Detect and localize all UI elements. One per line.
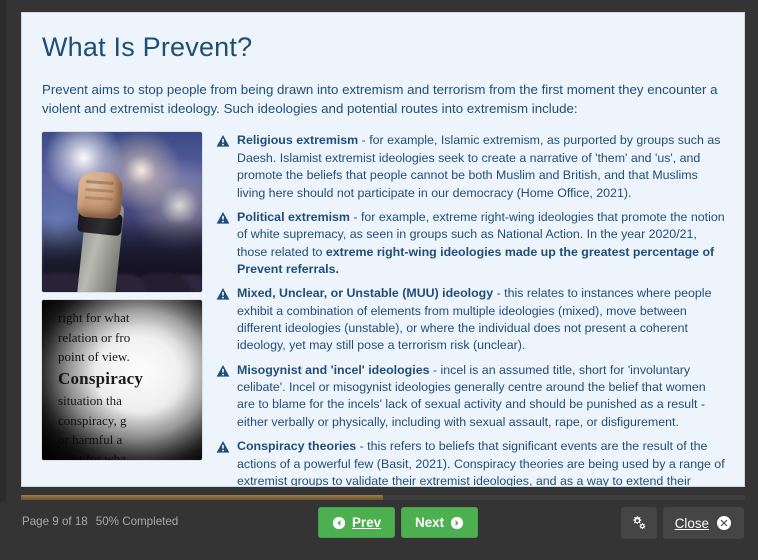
list-item: Mixed, Unclear, or Unstable (MUU) ideolo… [216,285,726,354]
next-button[interactable]: Next [401,507,478,538]
close-button[interactable]: Close [663,507,744,539]
warning-triangle-icon [216,134,230,148]
progress-bar-track [21,495,745,500]
page-status: Page 9 of 1850% Completed [22,515,178,528]
elearning-slide-viewer: What Is Prevent? Prevent aims to stop pe… [0,0,758,560]
circle-arrow-right-icon [450,516,464,530]
conspiracy-dictionary-photo: right for what relation or fro point of … [42,300,202,460]
dict-headword: Conspiracy [56,366,198,391]
list-item: Conspiracy theories - this refers to bel… [216,438,726,487]
dict-line: relation or fro [56,328,198,347]
page-number-label: Page 9 of 18 [22,515,88,528]
raised-fist-crowd-photo [42,132,202,292]
dict-line: situation tha [56,391,198,410]
list-item-text: Mixed, Unclear, or Unstable (MUU) ideolo… [237,285,726,354]
bullet-list: Religious extremism - for example, Islam… [216,130,726,487]
circle-x-icon [716,515,732,531]
list-item: Misogynist and 'incel' ideologies - ince… [216,362,726,431]
dict-line: right for wha [56,449,198,460]
list-item-text: Religious extremism - for example, Islam… [237,132,726,201]
content-columns: right for what relation or fro point of … [42,130,726,487]
slide-content-panel: What Is Prevent? Prevent aims to stop pe… [21,12,745,487]
dictionary-text: right for what relation or fro point of … [42,300,202,460]
warning-triangle-icon [216,287,230,301]
player-bottom-bar: Page 9 of 1850% Completed Prev Next [0,502,758,560]
warning-triangle-icon [216,364,230,378]
completion-label: 50% Completed [96,515,179,528]
list-item-term: Political extremism [237,210,350,224]
warning-triangle-icon [216,440,230,454]
fist-shape [76,171,123,220]
settings-button[interactable] [621,507,657,539]
cogs-icon [631,515,647,531]
dict-line: point of view. [56,347,198,366]
dict-line: or harmful a [56,430,198,449]
list-item-text: Misogynist and 'incel' ideologies - ince… [237,362,726,431]
window-left-edge [0,0,6,560]
list-item-term: Religious extremism [237,133,358,147]
prev-button-label: Prev [352,515,381,530]
list-item-text: Conspiracy theories - this refers to bel… [237,438,726,487]
list-item: Religious extremism - for example, Islam… [216,132,726,201]
list-item-term: Mixed, Unclear, or Unstable (MUU) ideolo… [237,286,493,300]
list-item: Political extremism - for example, extre… [216,209,726,278]
player-tools: Close [621,507,744,539]
next-button-label: Next [415,515,444,530]
close-button-label: Close [675,516,709,531]
page-title: What Is Prevent? [42,33,726,63]
intro-paragraph: Prevent aims to stop people from being d… [42,81,726,119]
prev-button[interactable]: Prev [318,507,395,538]
list-item-text: Political extremism - for example, extre… [237,209,726,278]
warning-triangle-icon [216,211,230,225]
dict-line: conspiracy, g [56,411,198,430]
image-column: right for what relation or fro point of … [42,130,202,460]
circle-arrow-left-icon [332,516,346,530]
progress-bar-fill [21,495,383,500]
list-item-term: Misogynist and 'incel' ideologies [237,363,429,377]
navigation-buttons: Prev Next [318,507,478,538]
list-item-term: Conspiracy theories [237,439,356,453]
dict-line: right for what [56,308,198,327]
